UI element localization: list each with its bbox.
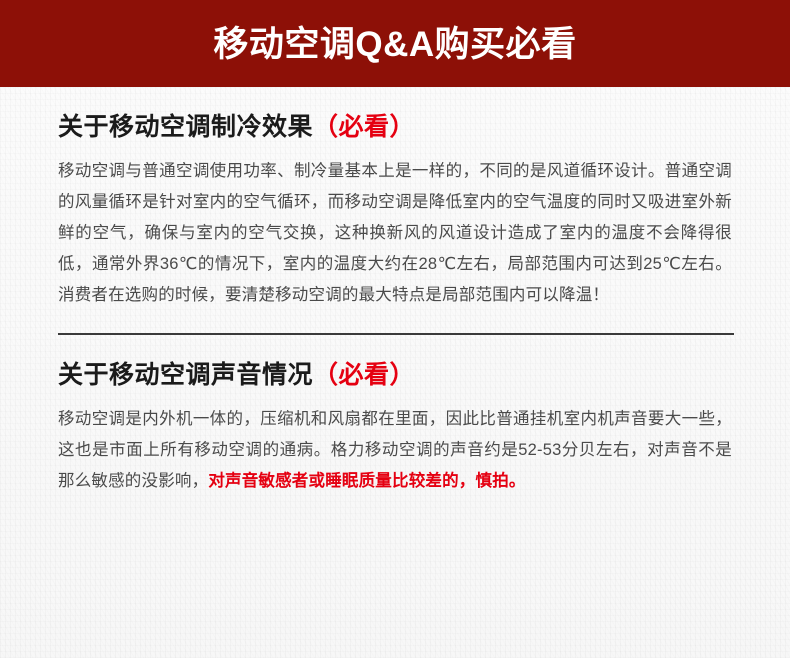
section-heading-note-must-read: （必看）: [313, 361, 415, 389]
body-warning-text: 对声音敏感者或睡眠质量比较差的，慎拍。: [208, 472, 525, 490]
content-area: 关于移动空调制冷效果（必看） 移动空调与普通空调使用功率、制冷量基本上是一样的，…: [0, 87, 790, 497]
section-heading-main-text: 关于移动空调制冷效果: [58, 113, 313, 141]
page-banner: 移动空调Q&A购买必看: [0, 0, 790, 87]
body-plain-text: 移动空调与普通空调使用功率、制冷量基本上是一样的，不同的是风道循环设计。普通空调…: [58, 162, 732, 304]
banner-title: 移动空调Q&A购买必看: [213, 25, 576, 62]
section-body-cooling-effect: 移动空调与普通空调使用功率、制冷量基本上是一样的，不同的是风道循环设计。普通空调…: [58, 156, 732, 311]
section-divider: [58, 333, 734, 335]
section-noise-level: 关于移动空调声音情况（必看） 移动空调是内外机一体的，压缩机和风扇都在里面，因此…: [0, 363, 790, 497]
section-heading-main-text: 关于移动空调声音情况: [58, 361, 313, 389]
section-heading-note-must-read: （必看）: [313, 113, 415, 141]
section-divider-wrap: [0, 333, 790, 335]
product-detail-page: 移动空调Q&A购买必看 关于移动空调制冷效果（必看） 移动空调与普通空调使用功率…: [0, 0, 790, 658]
section-cooling-effect: 关于移动空调制冷效果（必看） 移动空调与普通空调使用功率、制冷量基本上是一样的，…: [0, 115, 790, 311]
section-heading-noise-level: 关于移动空调声音情况（必看）: [58, 363, 732, 388]
section-body-noise-level: 移动空调是内外机一体的，压缩机和风扇都在里面，因此比普通挂机室内机声音要大一些，…: [58, 404, 732, 497]
section-heading-cooling-effect: 关于移动空调制冷效果（必看）: [58, 115, 732, 140]
